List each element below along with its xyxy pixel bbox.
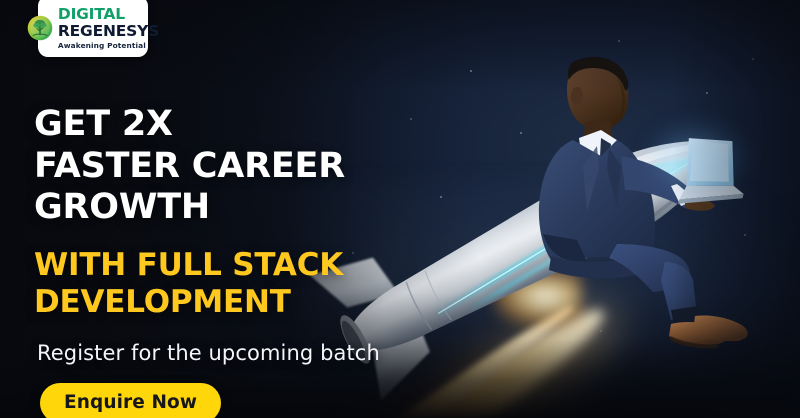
copy-block: GET 2X FASTER CAREER GROWTH WITH FULL ST…	[34, 104, 504, 418]
enquire-now-button[interactable]: Enquire Now	[40, 383, 221, 418]
headline: GET 2X FASTER CAREER GROWTH	[34, 104, 504, 229]
headline-line-1: GET 2X	[34, 104, 173, 144]
headline-line-2: FASTER CAREER GROWTH	[34, 146, 504, 229]
logo-line-digital: DIGITAL	[58, 7, 159, 23]
subheadline: WITH FULL STACK DEVELOPMENT	[34, 247, 504, 320]
subheadline-line-1: WITH FULL STACK	[34, 247, 343, 283]
tree-circle-emblem-icon	[27, 15, 53, 41]
promo-banner: DIGITAL REGENESYS Awakening Potential GE…	[0, 0, 800, 418]
logo-wordmark: DIGITAL REGENESYS Awakening Potential	[58, 7, 159, 49]
logo-tagline: Awakening Potential	[58, 42, 159, 49]
tagline-text: Register for the upcoming batch	[37, 341, 504, 365]
subheadline-line-2: DEVELOPMENT	[34, 284, 504, 321]
logo-line-regenesys: REGENESYS	[58, 24, 159, 40]
brand-logo[interactable]: DIGITAL REGENESYS Awakening Potential	[38, 0, 148, 57]
